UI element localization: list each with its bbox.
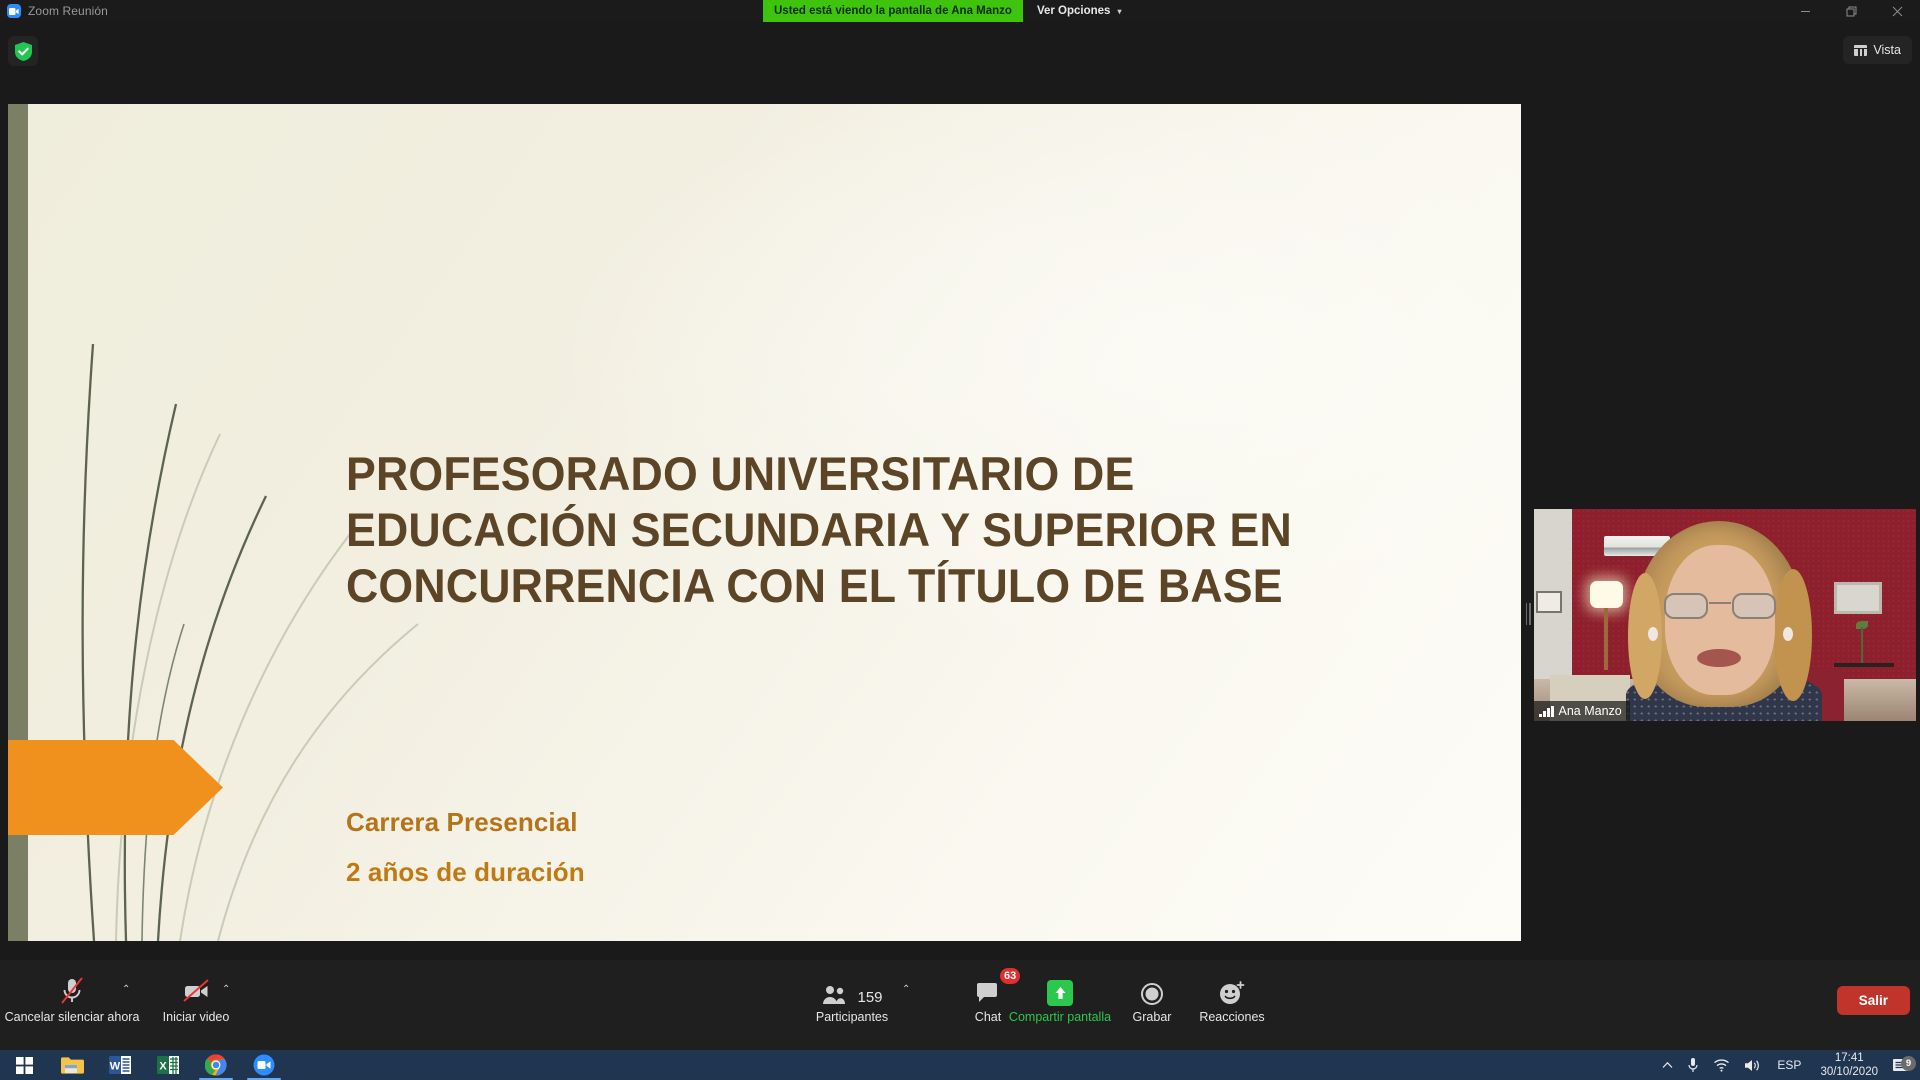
zoom-taskbar-icon[interactable] bbox=[240, 1050, 288, 1080]
minimize-icon[interactable] bbox=[1782, 0, 1828, 22]
participants-button-label: Participantes bbox=[816, 1010, 888, 1024]
slide-title: PROFESORADO UNIVERSITARIO DE EDUCACIÓN S… bbox=[346, 446, 1344, 614]
leave-meeting-button[interactable]: Salir bbox=[1837, 986, 1910, 1015]
share-screen-up-arrow-icon bbox=[1047, 970, 1073, 1006]
clock-date: 30/10/2020 bbox=[1820, 1065, 1878, 1079]
excel-taskbar-icon[interactable]: X bbox=[144, 1050, 192, 1080]
view-options-button[interactable]: Ver Opciones ▾ bbox=[1023, 0, 1136, 22]
video-feed bbox=[1534, 509, 1916, 721]
view-options-label: Ver Opciones bbox=[1037, 5, 1111, 17]
title-bar-left: Zoom Reunión bbox=[0, 4, 108, 18]
tray-overflow-chevron-up-icon[interactable] bbox=[1655, 1050, 1680, 1080]
view-button-label: Vista bbox=[1873, 43, 1901, 57]
svg-text:X: X bbox=[159, 1061, 167, 1073]
participants-count: 159 bbox=[857, 989, 882, 1006]
sharing-status-text: Usted está viendo la pantalla de Ana Man… bbox=[763, 0, 1023, 22]
grid-view-icon bbox=[1854, 45, 1867, 56]
start-button[interactable] bbox=[0, 1050, 48, 1080]
chrome-taskbar-icon[interactable] bbox=[192, 1050, 240, 1080]
notification-count-badge: 9 bbox=[1901, 1056, 1916, 1071]
zoom-meeting-toolbar: Cancelar silenciar ahora ⌃ Iniciar video… bbox=[0, 960, 1920, 1050]
input-language-indicator[interactable]: ESP bbox=[1768, 1058, 1810, 1072]
participants-icon: 159 bbox=[821, 970, 882, 1006]
wifi-icon[interactable] bbox=[1706, 1050, 1737, 1080]
notification-center-button[interactable]: 9 bbox=[1888, 1057, 1920, 1073]
signal-bars-icon bbox=[1539, 706, 1554, 717]
windows-taskbar: W X bbox=[0, 1050, 1920, 1080]
video-off-icon bbox=[181, 970, 211, 1006]
file-explorer-taskbar-icon[interactable] bbox=[48, 1050, 96, 1080]
restore-icon[interactable] bbox=[1828, 0, 1874, 22]
screen-share-banner: Usted está viendo la pantalla de Ana Man… bbox=[763, 0, 1135, 22]
reactions-button[interactable]: Reacciones bbox=[1172, 970, 1292, 1024]
slide-subtitle-modality: Carrera Presencial bbox=[346, 807, 578, 838]
participant-name-text: Ana Manzo bbox=[1559, 704, 1622, 718]
shared-screen-stage: PROFESORADO UNIVERSITARIO DE EDUCACIÓN S… bbox=[0, 84, 1920, 960]
start-video-button[interactable]: Iniciar video bbox=[136, 970, 256, 1024]
mute-button-label: Cancelar silenciar ahora bbox=[5, 1010, 140, 1024]
clock[interactable]: 17:41 30/10/2020 bbox=[1810, 1051, 1888, 1080]
window-title-bar: Zoom Reunión Usted está viendo la pantal… bbox=[0, 0, 1920, 22]
system-tray: ESP 17:41 30/10/2020 9 bbox=[1655, 1050, 1920, 1080]
participants-chevron-up-icon[interactable]: ⌃ bbox=[902, 984, 910, 995]
chat-button-label: Chat bbox=[975, 1010, 1001, 1024]
shield-check-icon[interactable] bbox=[8, 36, 38, 66]
video-options-chevron-up-icon[interactable]: ⌃ bbox=[222, 984, 230, 995]
presentation-slide: PROFESORADO UNIVERSITARIO DE EDUCACIÓN S… bbox=[8, 104, 1521, 941]
word-taskbar-icon[interactable]: W bbox=[96, 1050, 144, 1080]
zoom-top-strip: Vista bbox=[0, 22, 1920, 84]
mute-button[interactable]: Cancelar silenciar ahora bbox=[12, 970, 132, 1024]
participants-button[interactable]: 159 Participantes bbox=[792, 970, 912, 1024]
microphone-muted-icon bbox=[59, 970, 85, 1006]
smiley-plus-icon bbox=[1219, 970, 1245, 1006]
audio-options-chevron-up-icon[interactable]: ⌃ bbox=[122, 984, 130, 995]
participant-video-tile[interactable]: Ana Manzo bbox=[1534, 509, 1916, 721]
clock-time: 17:41 bbox=[1820, 1051, 1878, 1065]
microphone-icon[interactable] bbox=[1680, 1050, 1706, 1080]
reactions-button-label: Reacciones bbox=[1199, 1010, 1264, 1024]
app-title: Zoom Reunión bbox=[28, 4, 108, 18]
speaker-icon[interactable] bbox=[1737, 1050, 1768, 1080]
record-circle-icon bbox=[1140, 970, 1164, 1006]
start-video-button-label: Iniciar video bbox=[163, 1010, 230, 1024]
chat-bubble-icon: 63 bbox=[975, 970, 1001, 1006]
slide-subtitle-duration: 2 años de duración bbox=[346, 857, 585, 888]
svg-text:W: W bbox=[110, 1061, 121, 1073]
panel-resize-handle[interactable] bbox=[1524, 600, 1532, 628]
view-button[interactable]: Vista bbox=[1843, 36, 1912, 64]
close-icon[interactable] bbox=[1874, 0, 1920, 22]
window-controls bbox=[1782, 0, 1920, 22]
participant-name-label: Ana Manzo bbox=[1534, 701, 1630, 721]
zoom-camera-icon bbox=[7, 4, 21, 18]
record-button-label: Grabar bbox=[1133, 1010, 1172, 1024]
chevron-down-icon: ▾ bbox=[1117, 7, 1121, 16]
